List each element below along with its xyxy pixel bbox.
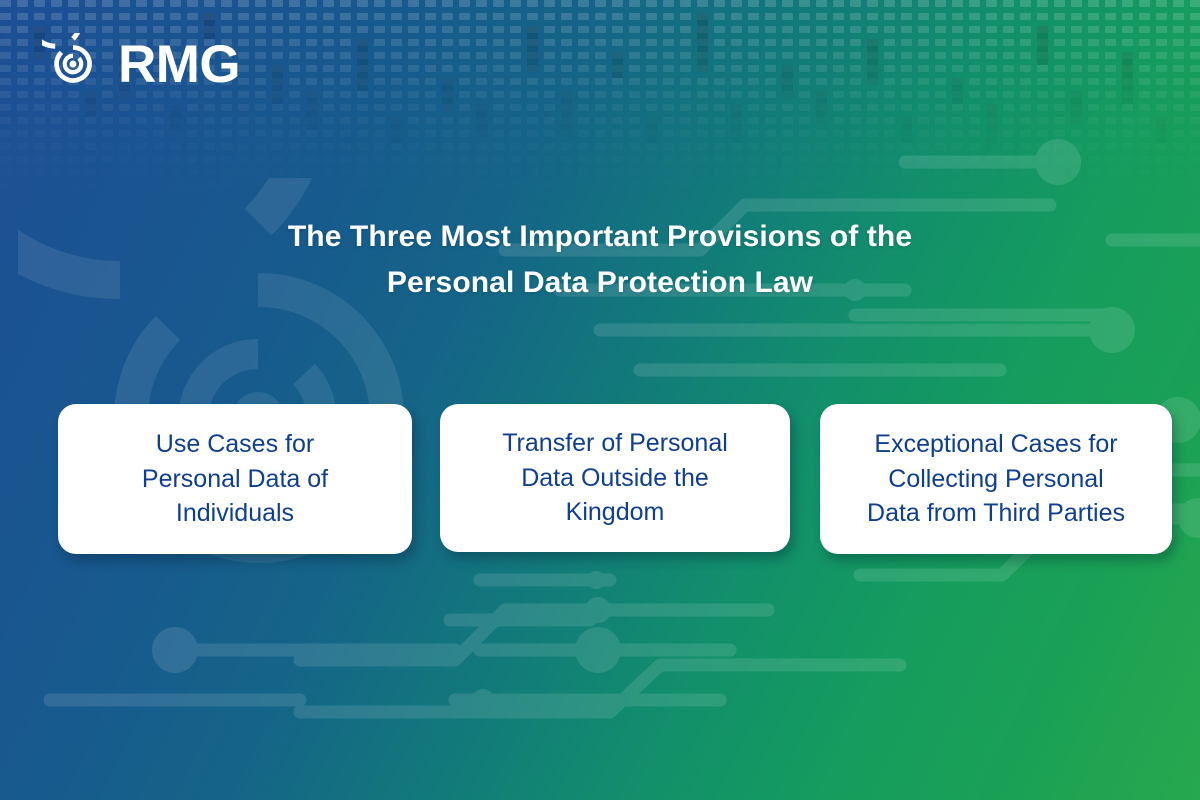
provision-card-transfer-outside[interactable]: Transfer of Personal Data Outside the Ki… bbox=[440, 404, 790, 552]
provision-card-use-cases[interactable]: Use Cases for Personal Data of Individua… bbox=[58, 404, 412, 554]
provision-card-label: Use Cases for Personal Data of Individua… bbox=[142, 427, 328, 531]
provision-card-label: Transfer of Personal Data Outside the Ki… bbox=[502, 426, 728, 530]
provision-card-label: Exceptional Cases for Collecting Persona… bbox=[867, 427, 1125, 531]
infographic-canvas: RMG The Three Most Important Provisions … bbox=[0, 0, 1200, 800]
provision-card-list: Use Cases for Personal Data of Individua… bbox=[0, 0, 1200, 800]
provision-card-exceptional-cases[interactable]: Exceptional Cases for Collecting Persona… bbox=[820, 404, 1172, 554]
